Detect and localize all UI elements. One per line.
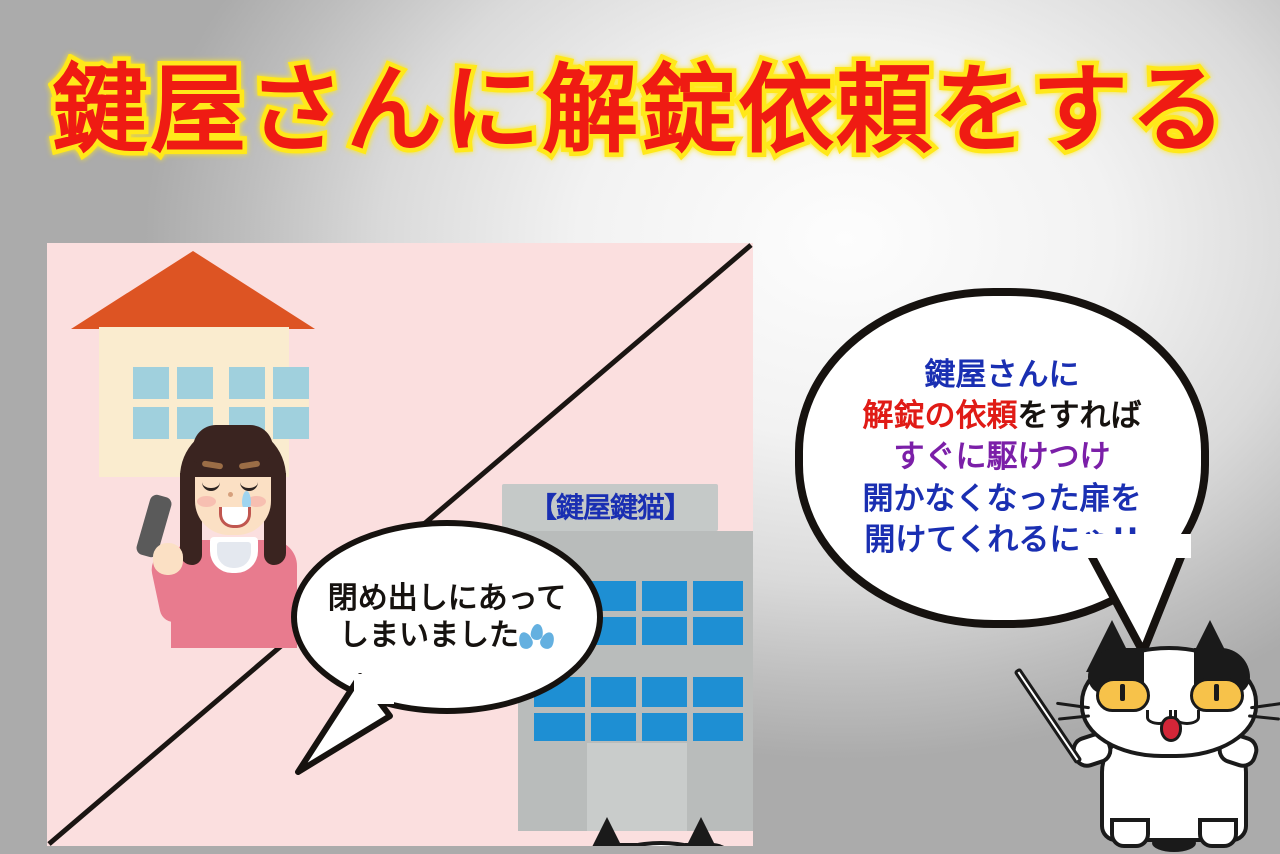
woman-fringe	[193, 425, 273, 463]
building-window-grid-3	[636, 581, 642, 645]
woman-nose	[228, 492, 233, 497]
building-window-grid-4	[687, 581, 693, 645]
cat-locksmith-phone	[545, 811, 753, 846]
narration-line-1: 鍵屋さんに	[925, 355, 1080, 396]
sweat-drops-icon	[519, 624, 555, 650]
mascot-tongue	[1160, 716, 1182, 742]
house-window-mullion-h1	[133, 399, 213, 407]
building-window-grid-8	[687, 677, 693, 741]
shop-sign-text: 【鍵屋鍵猫】	[502, 487, 718, 529]
mascot-pupil-left	[1120, 684, 1125, 701]
cat-head-patch-right	[685, 843, 739, 846]
woman-cheek-left	[197, 496, 216, 507]
cat-ear-left	[581, 817, 633, 846]
house-window-mullion-h2	[229, 399, 309, 407]
speech-bubble-woman-tail	[294, 668, 404, 778]
narration-line-3: すぐに駆けつけ	[894, 437, 1111, 478]
bubble-woman-line2-text: しまいました	[339, 618, 519, 653]
narration-line-2-highlight: 解錠の依頼	[863, 398, 1018, 434]
page-title: 鍵屋さんに解錠依頼をする	[0, 62, 1280, 158]
speech-bubble-woman: 閉め出しにあって しまいました	[291, 520, 603, 714]
mascot-pupil-right	[1214, 684, 1219, 701]
mascot-foot-left	[1110, 818, 1150, 848]
building-window-grid-7	[636, 677, 642, 741]
woman-hand	[153, 543, 183, 575]
bubble-woman-line1: 閉め出しにあって	[328, 580, 567, 618]
main-explanation-bubble: 鍵屋さんに 解錠の依頼をすれば すぐに駆けつけ 開かなくなった扉を 開けてくれる…	[795, 288, 1209, 628]
comic-panel: 【鍵屋鍵猫】	[47, 243, 753, 846]
cat-ear-right	[675, 817, 727, 846]
narration-line-4: 開かなくなった扉を	[863, 479, 1142, 520]
house-roof	[71, 251, 315, 329]
bubble-woman-line2: しまいました	[339, 617, 555, 655]
mascot-foot-right	[1198, 818, 1238, 848]
narration-line-2-rest: をすれば	[1018, 398, 1142, 434]
building-window-grid-6	[585, 677, 591, 741]
slide-canvas: 鍵屋さんに解錠依頼をする	[0, 0, 1280, 854]
cat-mascot-pointer	[1052, 612, 1280, 854]
narration-line-2: 解錠の依頼をすれば	[863, 396, 1142, 437]
